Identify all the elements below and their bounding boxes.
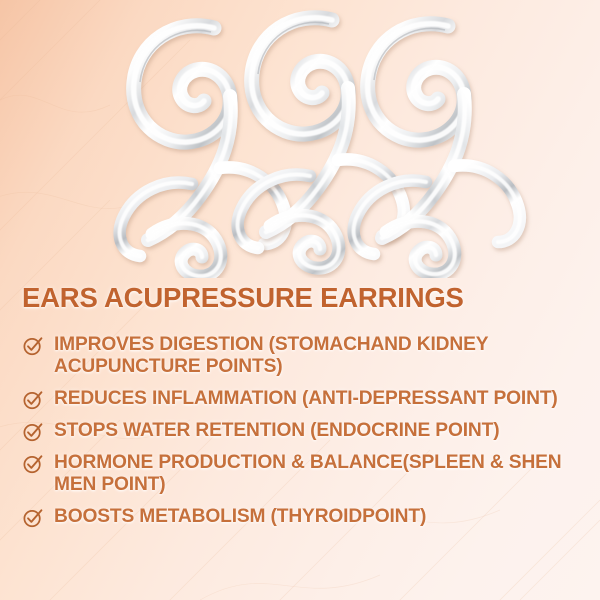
list-item: IMPROVES DIGESTION (STOMACHAND KIDNEY AC…: [22, 334, 594, 379]
check-circle-icon: [22, 335, 44, 357]
list-item: BOOSTS METABOLISM (THYROIDPOINT): [22, 506, 594, 529]
list-item: REDUCES INFLAMMATION (ANTI-DEPRESSANT PO…: [22, 388, 594, 411]
check-circle-icon: [22, 389, 44, 411]
benefits-list: IMPROVES DIGESTION (STOMACHAND KIDNEY AC…: [22, 334, 594, 529]
list-item-label: STOPS WATER RETENTION (ENDOCRINE POINT): [54, 420, 499, 442]
check-circle-icon: [22, 507, 44, 529]
list-item-label: REDUCES INFLAMMATION (ANTI-DEPRESSANT PO…: [54, 388, 558, 410]
product-image: [0, 0, 600, 278]
page-title: EARS ACUPRESSURE EARRINGS: [22, 284, 578, 313]
check-circle-icon: [22, 421, 44, 443]
list-item-label: IMPROVES DIGESTION (STOMACHAND KIDNEY AC…: [54, 334, 594, 379]
earring-3: [354, 24, 520, 274]
product-promo-poster: EARS ACUPRESSURE EARRINGS IMPROVES DIGES…: [0, 0, 600, 600]
list-item: STOPS WATER RETENTION (ENDOCRINE POINT): [22, 420, 594, 443]
list-item: HORMONE PRODUCTION & BALANCE(SPLEEN & SH…: [22, 452, 594, 497]
list-item-label: BOOSTS METABOLISM (THYROIDPOINT): [54, 506, 426, 528]
list-item-label: HORMONE PRODUCTION & BALANCE(SPLEEN & SH…: [54, 452, 594, 497]
check-circle-icon: [22, 453, 44, 475]
